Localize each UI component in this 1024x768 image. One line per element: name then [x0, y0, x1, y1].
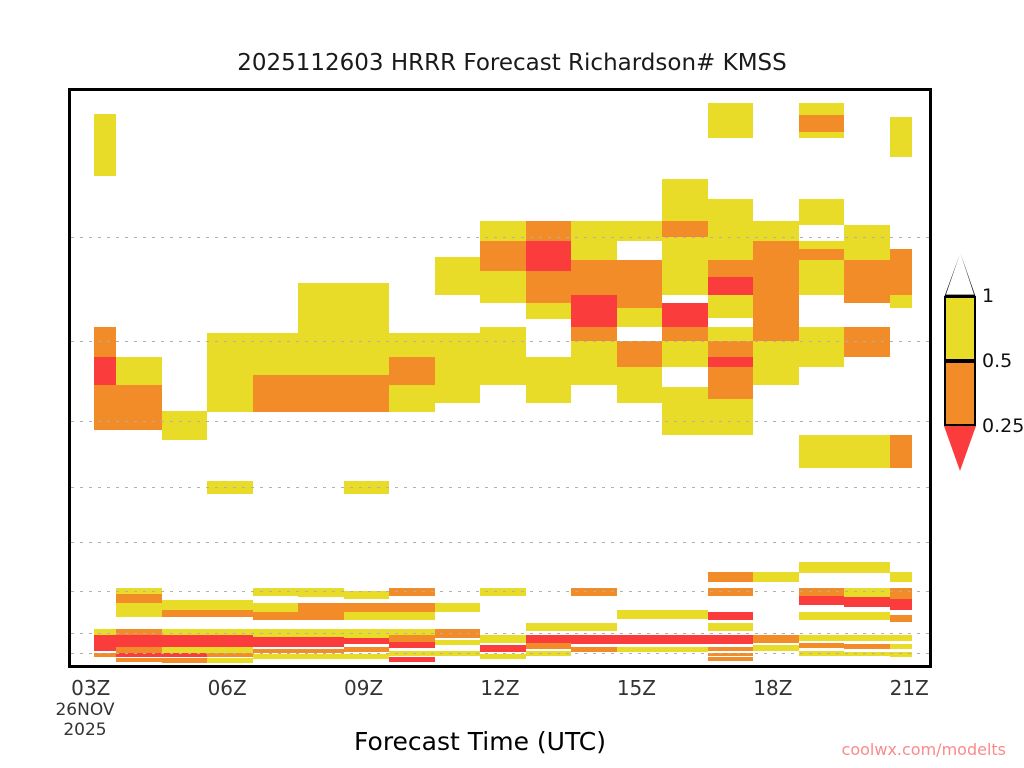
heatmap-cell	[94, 114, 117, 176]
colorbar-tick-label: 0.25	[982, 415, 1024, 437]
heatmap-cell	[253, 375, 298, 412]
x-axis-tick-label: 03Z	[71, 676, 110, 700]
heatmap-cell	[526, 241, 571, 272]
heatmap-cell	[526, 357, 571, 403]
heatmap-cell	[799, 435, 844, 468]
heatmap-cell	[571, 635, 616, 644]
heatmap-cell	[298, 603, 343, 612]
heatmap-cell	[162, 653, 207, 658]
heatmap-cell	[253, 654, 298, 659]
heatmap-cell	[162, 600, 207, 610]
heatmap-cell	[708, 199, 753, 225]
heatmap-cell	[799, 562, 844, 573]
heatmap-cell	[662, 387, 707, 435]
heatmap-cell	[799, 588, 844, 596]
heatmap-cell	[298, 629, 343, 637]
heatmap-cell	[753, 341, 798, 385]
y-tick	[68, 237, 71, 239]
chart-page: 2025112603 HRRR Forecast Richardson# KMS…	[0, 0, 1024, 768]
y-tick	[68, 633, 71, 635]
heatmap-cell	[526, 303, 571, 320]
heatmap-cell	[389, 357, 434, 385]
y-tick	[68, 91, 71, 93]
heatmap-cell	[571, 588, 616, 596]
heatmap-cell	[435, 629, 480, 638]
heatmap-cell	[435, 333, 480, 403]
heatmap-cell	[617, 610, 662, 618]
heatmap-cell	[253, 603, 298, 612]
heatmap-cell	[708, 260, 753, 277]
heatmap-cell	[662, 610, 707, 618]
heatmap-cell	[662, 179, 707, 222]
heatmap-cell	[708, 225, 753, 260]
heatmap-cell	[708, 277, 753, 295]
heatmap-cell	[844, 225, 889, 260]
x-tick	[94, 665, 96, 668]
heatmap-cell	[389, 603, 434, 612]
y-tick	[68, 591, 71, 593]
heatmap-cell	[526, 635, 571, 643]
heatmap-cell	[253, 629, 298, 637]
colorbar-over-arrow	[944, 251, 976, 296]
heatmap-cell	[799, 249, 844, 260]
heatmap-cell	[298, 654, 343, 659]
heatmap-cell	[844, 260, 889, 302]
heatmap-cell	[480, 327, 525, 385]
heatmap-cell	[799, 612, 844, 620]
heatmap-cell	[617, 635, 662, 644]
heatmap-cell	[708, 341, 753, 357]
heatmap-cell	[207, 635, 252, 647]
date-line-2: 2025	[30, 720, 140, 740]
x-axis-tick-label: 18Z	[753, 676, 792, 700]
heatmap-cell	[890, 644, 913, 649]
heatmap-cell	[298, 333, 343, 376]
heatmap-cell	[708, 588, 753, 596]
colorbar-tick-label: 1	[982, 285, 994, 307]
heatmap-cell	[344, 603, 389, 612]
x-axis-tick-label: 15Z	[617, 676, 656, 700]
heatmap-cell	[116, 385, 161, 430]
heatmap-cell	[480, 645, 525, 652]
heatmap-cell	[116, 658, 161, 662]
y-tick	[68, 542, 71, 544]
heatmap-cell	[571, 623, 616, 631]
heatmap-cell	[708, 612, 753, 620]
x-axis-tick-label: 21Z	[890, 676, 929, 700]
heatmap-cell	[890, 117, 913, 157]
heatmap-cells	[71, 91, 929, 665]
heatmap-cell	[708, 623, 753, 631]
heatmap-cell	[298, 283, 343, 332]
heatmap-cell	[890, 572, 913, 582]
heatmap-cell	[708, 635, 753, 644]
heatmap-cell	[799, 327, 844, 341]
chart-title: 2025112603 HRRR Forecast Richardson# KMS…	[0, 50, 1024, 76]
heatmap-cell	[662, 221, 707, 237]
heatmap-cell	[389, 642, 434, 648]
heatmap-cell	[480, 271, 525, 302]
heatmap-cell	[480, 241, 525, 272]
heatmap-cell	[253, 333, 298, 376]
heatmap-cell	[617, 367, 662, 403]
x-tick	[912, 665, 914, 668]
heatmap-cell	[344, 654, 389, 659]
heatmap-cell	[116, 603, 161, 618]
heatmap-cell	[162, 411, 207, 440]
heatmap-cell	[799, 635, 844, 641]
heatmap-cell	[253, 588, 298, 596]
heatmap-cell	[162, 658, 207, 663]
heatmap-cell	[389, 333, 434, 357]
heatmap-cell	[162, 610, 207, 617]
heatmap-cell	[207, 658, 252, 663]
heatmap-cell	[890, 599, 913, 611]
heatmap-cell	[617, 221, 662, 241]
heatmap-cell	[94, 357, 117, 385]
heatmap-cell	[298, 637, 343, 647]
heatmap-cell	[708, 653, 753, 656]
heatmap-cell	[116, 357, 161, 385]
heatmap-cell	[753, 241, 798, 341]
colorbar-segment	[944, 296, 976, 361]
heatmap-cell	[526, 651, 571, 656]
heatmap-cell	[571, 341, 616, 385]
heatmap-cell	[662, 237, 707, 295]
heatmap-cell	[571, 295, 616, 327]
heatmap-cell	[94, 635, 117, 651]
heatmap-cell	[844, 341, 889, 357]
y-tick	[68, 421, 71, 423]
heatmap-cell	[116, 653, 161, 658]
x-tick	[639, 665, 641, 668]
heatmap-cell	[526, 221, 571, 241]
y-tick	[68, 567, 71, 569]
heatmap-cell	[344, 638, 389, 644]
heatmap-cell	[298, 649, 343, 654]
heatmap-cell	[844, 644, 889, 649]
y-tick	[68, 341, 71, 343]
heatmap-cell	[435, 603, 480, 612]
heatmap-cell	[890, 295, 913, 308]
heatmap-cell	[571, 241, 616, 261]
date-line-1: 26NOV	[30, 700, 140, 720]
heatmap-cell	[708, 367, 753, 399]
y-tick	[68, 653, 71, 655]
heatmap-cell	[662, 647, 707, 652]
heatmap-cell	[253, 637, 298, 647]
x-tick	[776, 665, 778, 668]
heatmap-cell	[890, 249, 913, 295]
heatmap-cell	[662, 327, 707, 341]
heatmap-cell	[571, 260, 616, 294]
heatmap-cell	[708, 399, 753, 435]
x-axis-tick-label: 06Z	[208, 676, 247, 700]
heatmap-cell	[844, 635, 889, 641]
heatmap-cell	[617, 308, 662, 327]
heatmap-cell	[344, 375, 389, 412]
heatmap-cell	[344, 591, 389, 599]
heatmap-cell	[617, 647, 662, 652]
heatmap-cell	[890, 588, 913, 598]
heatmap-cell	[753, 221, 798, 241]
x-tick	[503, 665, 505, 668]
heatmap-cell	[844, 435, 889, 468]
heatmap-cell	[890, 652, 913, 657]
heatmap-cell	[207, 600, 252, 610]
colorbar-segment	[944, 361, 976, 426]
heatmap-cell	[571, 647, 616, 652]
colorbar-under-arrow	[944, 426, 976, 471]
y-tick	[68, 383, 71, 385]
heatmap-cell	[708, 647, 753, 651]
heatmap-cell	[389, 612, 434, 620]
heatmap-cell	[753, 645, 798, 651]
y-tick	[68, 516, 71, 518]
heatmap-cell	[708, 103, 753, 138]
heatmap-cell	[844, 327, 889, 341]
heatmap-cell	[708, 657, 753, 661]
heatmap-cell	[298, 612, 343, 620]
heatmap-cell	[389, 651, 434, 656]
heatmap-cell	[571, 327, 616, 341]
heatmap-cell	[844, 562, 889, 573]
heatmap-cell	[435, 640, 480, 645]
y-tick	[68, 487, 71, 489]
x-tick	[367, 665, 369, 668]
heatmap-cell	[799, 643, 844, 648]
heatmap-cell	[94, 327, 117, 357]
heatmap-cell	[799, 115, 844, 131]
y-tick	[68, 612, 71, 614]
x-axis-title: Forecast Time (UTC)	[180, 727, 780, 756]
heatmap-cell	[207, 481, 252, 494]
date-stamp: 26NOV 2025	[30, 700, 140, 740]
heatmap-cell	[94, 385, 117, 430]
heatmap-cell	[799, 596, 844, 605]
heatmap-cell	[389, 385, 434, 412]
heatmap-cell	[799, 341, 844, 367]
heatmap-cell	[753, 635, 798, 643]
heatmap-cell	[344, 481, 389, 494]
heatmap-cell	[480, 588, 525, 596]
heatmap-cell	[435, 651, 480, 656]
heatmap-cell	[526, 623, 571, 631]
x-axis-tick-label: 09Z	[344, 676, 383, 700]
watermark: coolwx.com/modelts	[842, 740, 1006, 759]
heatmap-cell	[662, 303, 707, 327]
heatmap-cell	[844, 597, 889, 607]
x-axis-tick-label: 12Z	[480, 676, 519, 700]
heatmap-cell	[526, 643, 571, 649]
y-tick	[68, 456, 71, 458]
heatmap-cell	[389, 588, 434, 596]
heatmap-cell	[253, 612, 298, 620]
heatmap-cell	[435, 257, 480, 295]
heatmap-cell	[344, 647, 389, 652]
heatmap-cell	[389, 657, 434, 662]
heatmap-cell	[94, 653, 117, 657]
heatmap-cell	[617, 260, 662, 307]
y-tick	[68, 171, 71, 173]
heatmap-cell	[571, 221, 616, 241]
heatmap-cell	[753, 572, 798, 582]
heatmap-cell	[844, 588, 889, 597]
heatmap-cell	[708, 327, 753, 341]
heatmap-cell	[526, 271, 571, 302]
x-tick	[230, 665, 232, 668]
colorbar-tick-label: 0.5	[982, 350, 1012, 372]
heatmap-cell	[844, 652, 889, 657]
heatmap-cell	[890, 615, 913, 622]
heatmap-cell	[253, 649, 298, 654]
heatmap-cell	[480, 635, 525, 643]
heatmap-cell	[344, 629, 389, 638]
heatmap-cell	[708, 357, 753, 367]
heatmap-cell	[662, 341, 707, 367]
heatmap-cell	[298, 588, 343, 597]
heatmap-cell	[207, 610, 252, 617]
heatmap-cell	[799, 199, 844, 225]
heatmap-cell	[799, 260, 844, 294]
heatmap-cell	[708, 572, 753, 582]
colorbar: 10.50.25	[944, 296, 976, 426]
heatmap-cell	[207, 333, 252, 412]
heatmap-plot-area	[68, 88, 932, 668]
heatmap-cell	[298, 375, 343, 412]
heatmap-cell	[890, 435, 913, 468]
heatmap-cell	[617, 341, 662, 367]
heatmap-cell	[162, 635, 207, 647]
heatmap-cell	[389, 635, 434, 642]
heatmap-cell	[480, 654, 525, 659]
heatmap-cell	[116, 594, 161, 603]
heatmap-cell	[890, 635, 913, 641]
heatmap-cell	[116, 635, 161, 647]
heatmap-cell	[799, 651, 844, 656]
heatmap-cell	[344, 283, 389, 375]
heatmap-cell	[207, 653, 252, 658]
heatmap-cell	[708, 295, 753, 318]
heatmap-cell	[844, 612, 889, 620]
heatmap-cell	[344, 612, 389, 620]
heatmap-cell	[480, 221, 525, 241]
heatmap-cell	[662, 635, 707, 644]
y-tick	[68, 293, 71, 295]
